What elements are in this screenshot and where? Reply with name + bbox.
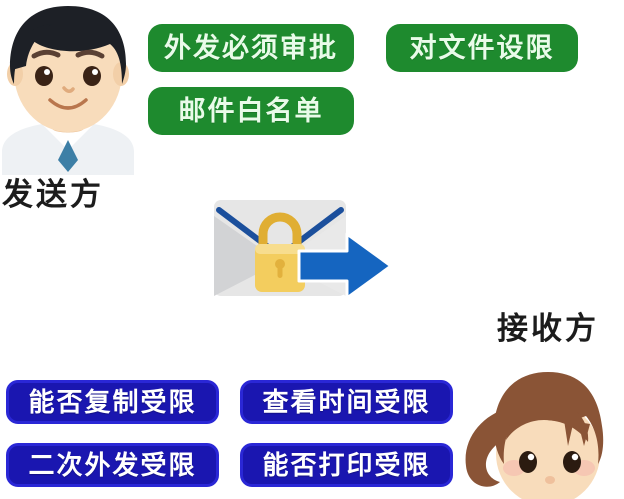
receiver-caption: 接收方	[497, 303, 599, 348]
policy-pill-reforward-restricted[interactable]: 二次外发受限	[6, 443, 219, 487]
policy-pill-view-time-restricted[interactable]: 查看时间受限	[240, 380, 453, 424]
policy-pill-file-restriction[interactable]: 对文件设限	[386, 24, 578, 72]
sender-caption: 发送方	[2, 169, 104, 214]
sender-avatar	[0, 0, 138, 175]
secure-mail-transfer-graphic	[213, 196, 393, 308]
policy-pill-copy-restricted[interactable]: 能否复制受限	[6, 380, 219, 424]
diagram-canvas: 发送方 外发必须审批 对文件设限 邮件白名单	[0, 0, 624, 499]
policy-pill-outbound-approval[interactable]: 外发必须审批	[148, 24, 354, 72]
receiver-avatar	[452, 358, 624, 499]
policy-pill-mail-whitelist[interactable]: 邮件白名单	[148, 87, 354, 135]
policy-pill-print-restricted[interactable]: 能否打印受限	[240, 443, 453, 487]
